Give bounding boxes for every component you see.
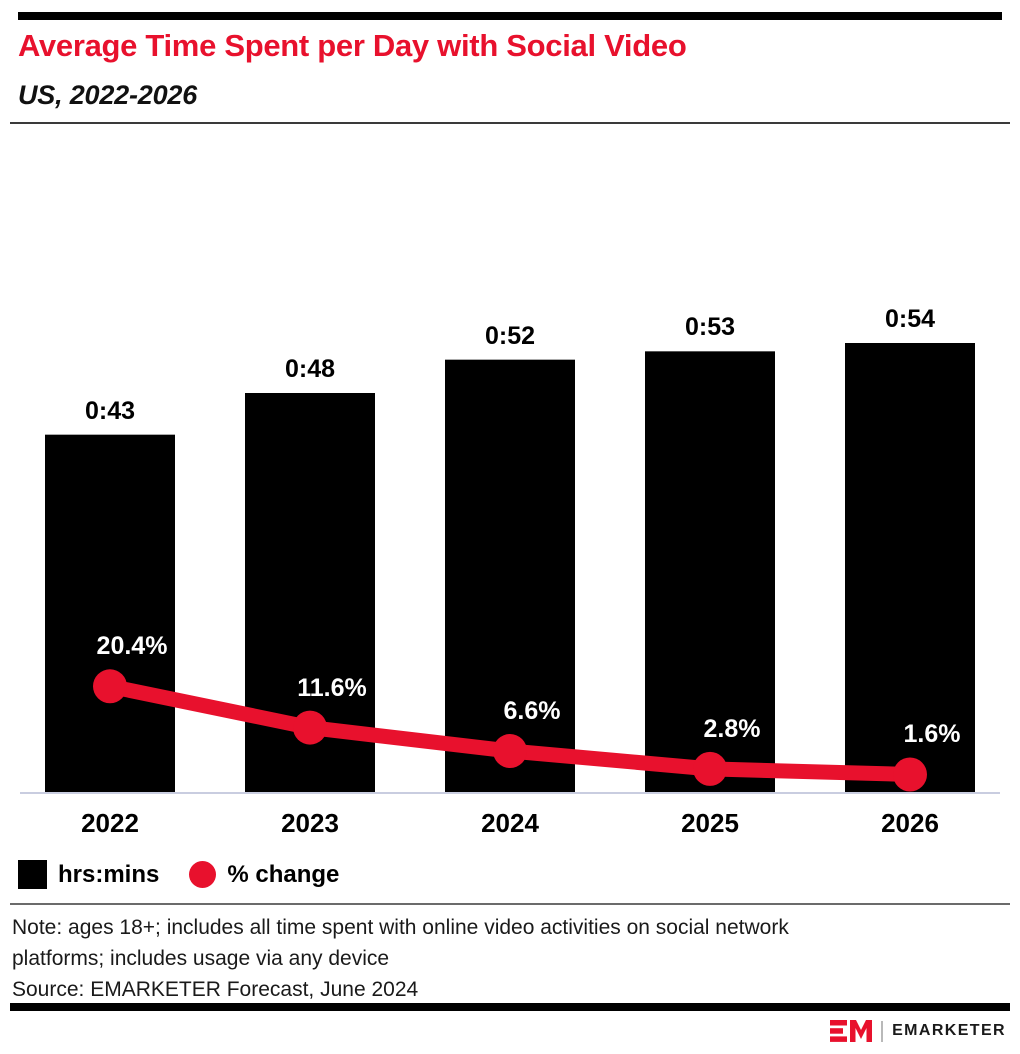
legend-divider [10, 903, 1010, 905]
percent-value-label: 6.6% [504, 697, 561, 726]
header-divider [10, 122, 1010, 124]
top-rule [18, 12, 1002, 20]
chart-legend: hrs:mins % change [18, 860, 339, 889]
data-point-marker [893, 757, 927, 791]
page-title: Average Time Spent per Day with Social V… [18, 28, 978, 64]
percent-value-label: 1.6% [904, 720, 961, 749]
emarketer-logo[interactable]: EMARKETER [830, 1019, 1006, 1043]
data-point-marker [693, 752, 727, 786]
logo-wordmark: EMARKETER [892, 1022, 1006, 1040]
legend-item-pct-change[interactable]: % change [189, 861, 339, 889]
bar-value-label: 0:54 [885, 305, 935, 334]
x-axis-tick-2024: 2024 [481, 808, 539, 839]
note-line-1: Note: ages 18+; includes all time spent … [12, 912, 992, 943]
percent-value-label: 20.4% [97, 632, 168, 661]
percent-value-label: 2.8% [704, 715, 761, 744]
bar-value-label: 0:48 [285, 355, 335, 384]
chart-page: Average Time Spent per Day with Social V… [0, 0, 1020, 1054]
x-axis-labels: 20222023202420252026 [0, 800, 1020, 848]
note-line-2: platforms; includes usage via any device [12, 943, 992, 974]
em-monogram-icon [830, 1019, 872, 1043]
bar-value-label: 0:43 [85, 397, 135, 426]
logo-divider [881, 1021, 883, 1042]
bottom-rule [10, 1003, 1010, 1011]
bar [45, 435, 175, 793]
bar [445, 360, 575, 793]
square-swatch-icon [18, 860, 47, 889]
source-line: Source: EMARKETER Forecast, June 2024 [12, 974, 992, 1005]
bar-value-label: 0:52 [485, 322, 535, 351]
footnotes: Note: ages 18+; includes all time spent … [12, 912, 992, 1005]
data-point-marker [293, 711, 327, 745]
legend-label: % change [227, 861, 339, 889]
legend-label: hrs:mins [58, 861, 159, 889]
x-axis-tick-2022: 2022 [81, 808, 139, 839]
x-axis-tick-2023: 2023 [281, 808, 339, 839]
bar-value-label: 0:53 [685, 313, 735, 342]
x-axis-tick-2026: 2026 [881, 808, 939, 839]
x-axis-tick-2025: 2025 [681, 808, 739, 839]
data-point-marker [93, 669, 127, 703]
legend-item-hrs-mins[interactable]: hrs:mins [18, 860, 159, 889]
plot-area: 0:430:480:520:530:54 20.4%11.6%6.6%2.8%1… [0, 130, 1020, 800]
circle-swatch-icon [189, 861, 216, 888]
page-subtitle: US, 2022-2026 [18, 80, 978, 111]
data-point-marker [493, 734, 527, 768]
percent-value-label: 11.6% [297, 674, 367, 703]
